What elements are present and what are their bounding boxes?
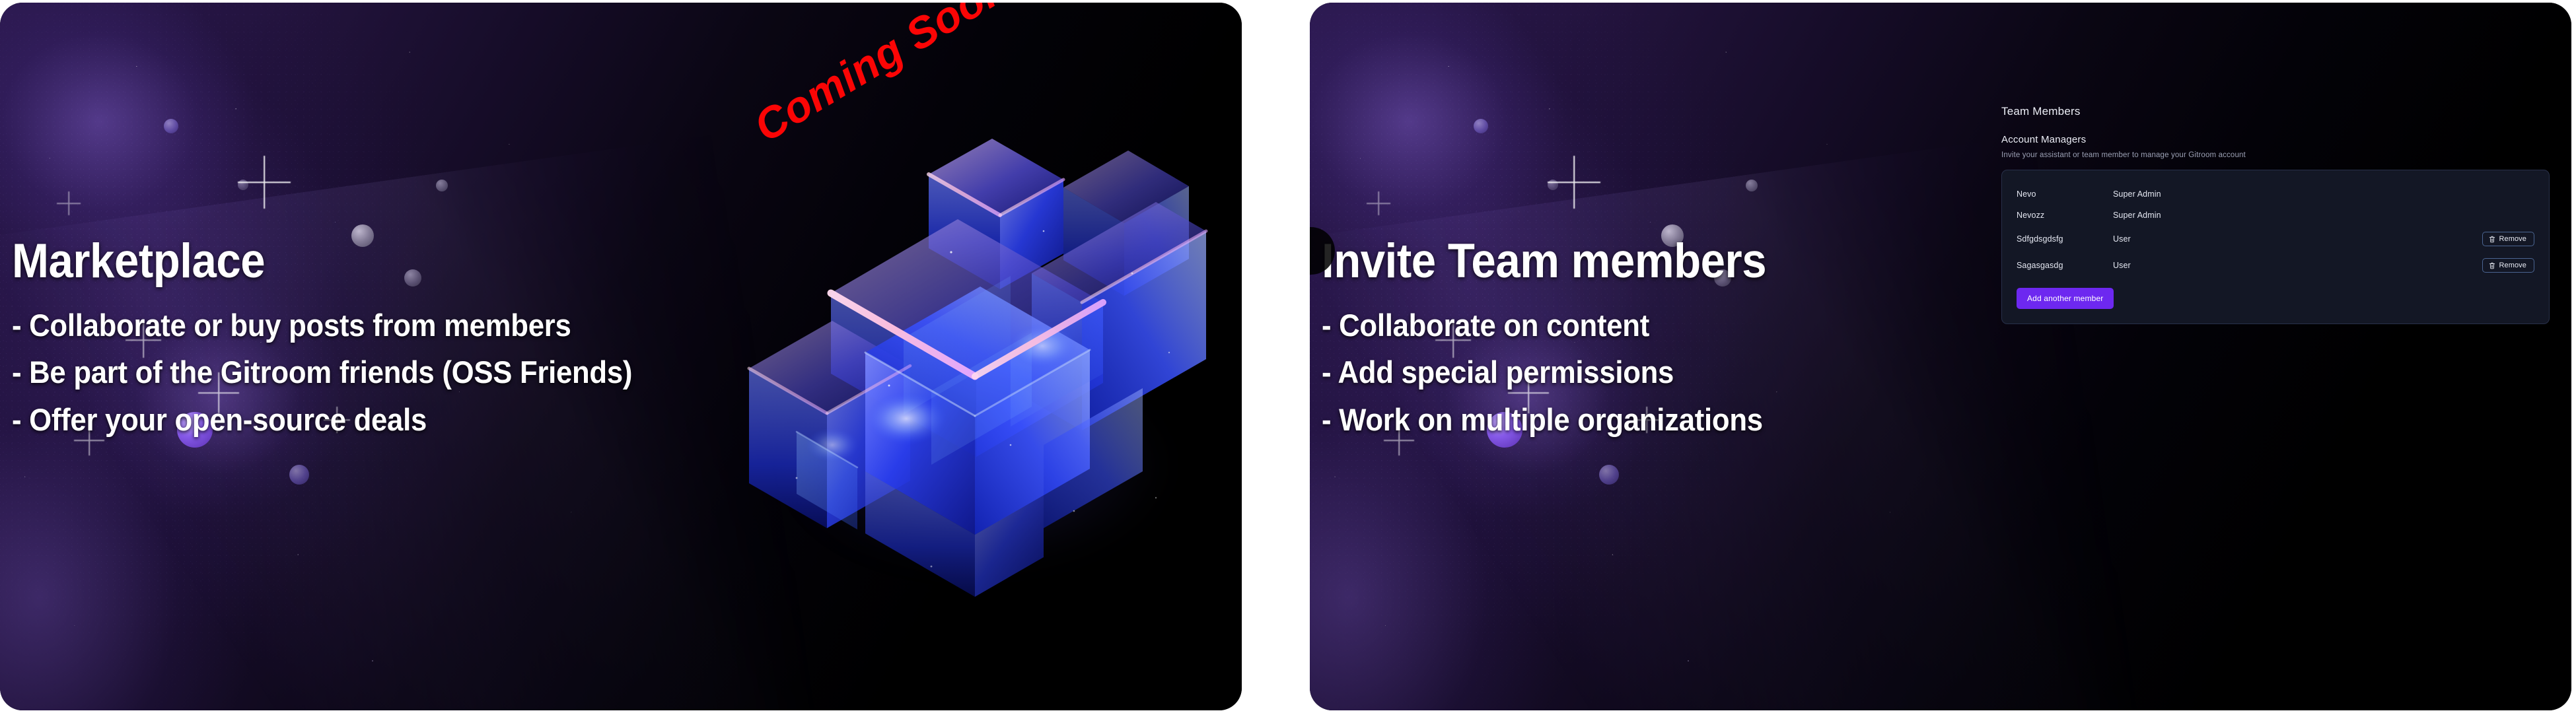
member-action-cell: Remove [2423,226,2534,252]
remove-member-button[interactable]: Remove [2482,258,2534,273]
feature-bullet-list: - Collaborate on content - Add special p… [1322,309,2147,436]
remove-member-label: Remove [2499,261,2526,269]
member-action-cell [2423,184,2534,205]
table-row: Nevozz Super Admin [2017,205,2534,226]
table-row: Sdfgdsgdsfg User Remove [2017,226,2534,252]
carousel-slide-marketplace[interactable]: Marketplace - Collaborate or buy posts f… [0,3,1242,710]
member-name: Nevo [2017,184,2113,205]
feature-bullet: - Collaborate or buy posts from members [12,309,780,342]
carousel-slide-invite-team-members[interactable]: Invite Team members - Collaborate on con… [1310,3,2571,710]
remove-member-button[interactable]: Remove [2482,232,2534,246]
trash-icon [2489,262,2495,269]
table-row: Nevo Super Admin [2017,184,2534,205]
table-row: Sagasgasdg User Remove [2017,252,2534,279]
feature-bullet: - Add special permissions [1322,356,2090,389]
add-another-member-button[interactable]: Add another member [2017,288,2114,309]
member-name: Sagasgasdg [2017,252,2113,279]
team-members-table: Nevo Super Admin Nevozz Super Admin Sdfg… [2017,184,2534,279]
slide-copy-marketplace: Marketplace - Collaborate or buy posts f… [12,3,838,710]
member-role: Super Admin [2113,205,2423,226]
section-heading-account-managers: Account Managers [2001,134,2571,145]
member-action-cell [2423,205,2534,226]
panel-title: Team Members [2001,105,2571,118]
account-managers-card: Nevo Super Admin Nevozz Super Admin Sdfg… [2001,170,2550,324]
member-role: User [2113,252,2423,279]
feature-bullet: - Collaborate on content [1322,309,2090,342]
feature-bullet: - Offer your open-source deals [12,403,780,436]
member-role: Super Admin [2113,184,2423,205]
section-subtitle: Invite your assistant or team member to … [2001,151,2571,159]
member-action-cell: Remove [2423,252,2534,279]
slide-title: Marketplace [12,237,771,286]
feature-bullet-list: - Collaborate or buy posts from members … [12,309,838,436]
member-name: Nevozz [2017,205,2113,226]
member-name: Sdfgdsgdsfg [2017,226,2113,252]
feature-carousel: Marketplace - Collaborate or buy posts f… [0,0,2576,713]
team-members-settings-panel: Team Members Account Managers Invite you… [2001,105,2571,324]
feature-bullet: - Be part of the Gitroom friends (OSS Fr… [12,356,780,389]
member-role: User [2113,226,2423,252]
feature-bullet: - Work on multiple organizations [1322,403,2090,436]
trash-icon [2489,236,2495,243]
slide-title: Invite Team members [1322,237,2081,286]
remove-member-label: Remove [2499,235,2526,243]
